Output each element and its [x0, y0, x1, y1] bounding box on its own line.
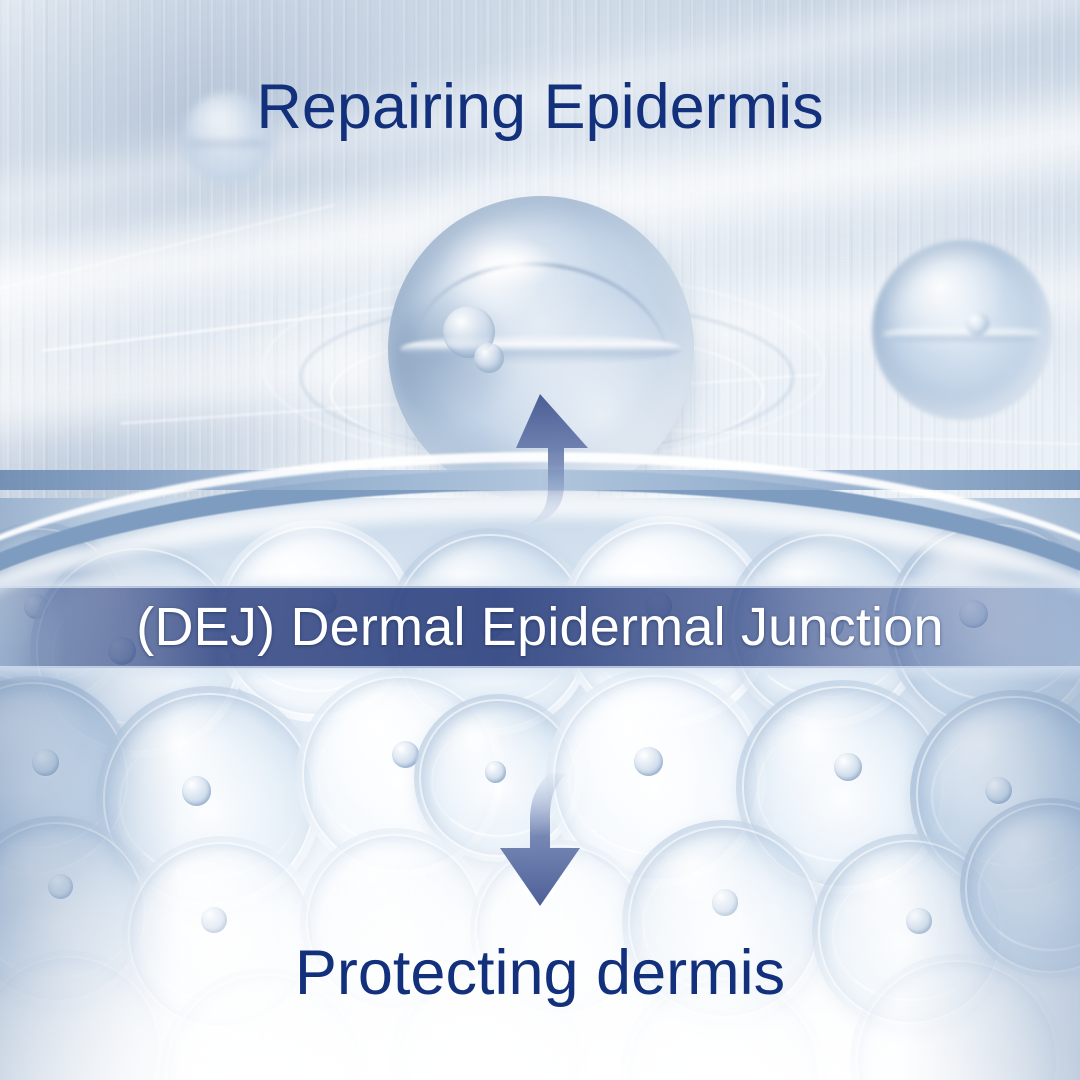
- dej-banner-bottom-haze: [0, 666, 1080, 682]
- sphere-equator-reflection: [400, 334, 682, 365]
- sphere-specular-glint: [468, 239, 560, 288]
- dej-banner-top-haze: [0, 574, 1080, 588]
- droplet-sphere-right: [872, 240, 1052, 420]
- dej-banner-label: (DEJ) Dermal Epidermal Junction: [136, 600, 943, 654]
- downward-curved-arrow: [480, 770, 598, 910]
- infographic-canvas: (DEJ) Dermal Epidermal Junction Repairin…: [0, 0, 1080, 1080]
- dej-banner: (DEJ) Dermal Epidermal Junction: [0, 586, 1080, 668]
- sphere-equator-reflection: [189, 140, 266, 147]
- upward-curved-arrow: [484, 392, 596, 527]
- sphere-equator-reflection: [883, 326, 1041, 342]
- page-title-bottom: Protecting dermis: [0, 942, 1080, 1005]
- page-title-top: Repairing Epidermis: [0, 76, 1080, 139]
